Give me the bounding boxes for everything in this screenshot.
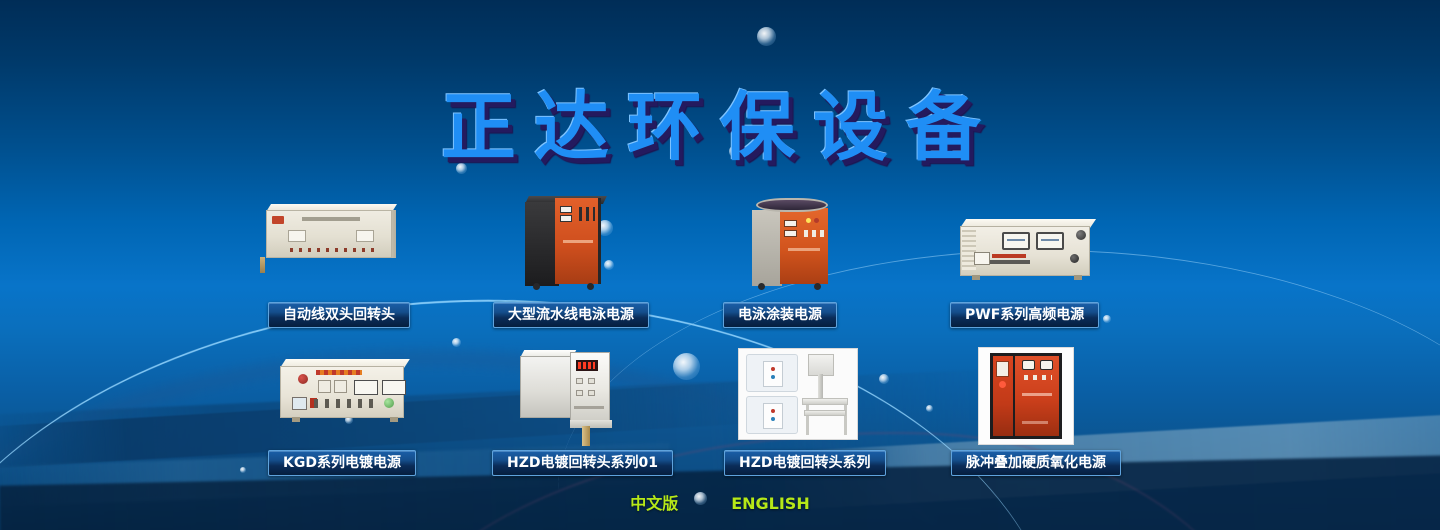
bubble-9	[926, 405, 933, 412]
product-label-5[interactable]: KGD系列电镀电源	[268, 450, 416, 476]
product-image-7	[738, 348, 858, 440]
bubble-7	[673, 353, 700, 380]
product-label-2[interactable]: 大型流水线电泳电源	[493, 302, 649, 328]
product-label-3[interactable]: 电泳涂装电源	[723, 302, 837, 328]
lang-chinese-link[interactable]: 中文版	[630, 490, 678, 514]
language-nav: 中文版 ENGLISH	[0, 490, 1440, 514]
bubble-11	[1103, 315, 1111, 323]
product-label-1[interactable]: 自动线双头回转头	[268, 302, 410, 328]
product-image-8	[978, 347, 1074, 445]
product-image-2	[525, 196, 607, 294]
bubble-8	[879, 374, 889, 384]
product-label-7[interactable]: HZD电镀回转头系列	[724, 450, 886, 476]
product-image-3	[752, 196, 838, 294]
product-card-7[interactable]: HZD电镀回转头系列	[738, 348, 858, 440]
product-image-4	[950, 214, 1100, 290]
product-label-4[interactable]: PWF系列高频电源	[950, 302, 1099, 328]
product-image-6	[518, 348, 614, 448]
product-label-6[interactable]: HZD电镀回转头系列01	[492, 450, 673, 476]
bubble-13	[240, 467, 246, 473]
product-card-8[interactable]: 脉冲叠加硬质氧化电源	[978, 347, 1074, 445]
product-image-5	[272, 352, 412, 434]
lang-english-link[interactable]: ENGLISH	[731, 494, 810, 513]
bubble-6	[452, 338, 461, 347]
bubble-1	[757, 27, 776, 46]
banner-page: 正达环保设备 自动线双头回转头 大型流水线电泳电源 电泳涂装电源	[0, 0, 1440, 530]
product-label-8[interactable]: 脉冲叠加硬质氧化电源	[951, 450, 1121, 476]
page-title: 正达环保设备	[0, 66, 1440, 175]
product-image-1	[260, 196, 400, 276]
